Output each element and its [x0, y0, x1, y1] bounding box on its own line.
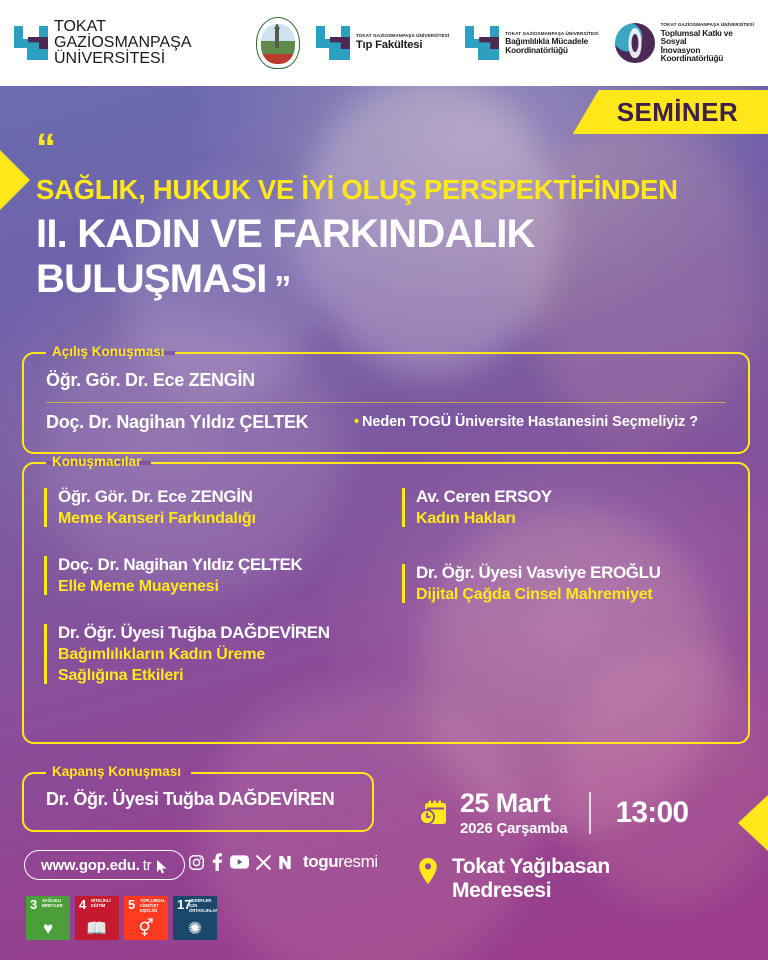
sponsor-logo-strip: TOKAT GAZİOSMANPAŞA ÜNİVERSİTESİ TOKAT G… — [0, 0, 768, 86]
speaker-item: Öğr. Gör. Dr. Ece ZENGİN Meme Kanseri Fa… — [44, 486, 399, 530]
opening-speech-panel: Açılış Konuşması Öğr. Gör. Dr. Ece ZENGİ… — [22, 352, 750, 454]
speaker-topic: Meme Kanseri Farkındalığı — [58, 509, 399, 530]
speakers-column-right: Av. Ceren ERSOY Kadın Hakları Dr. Öğr. Ü… — [402, 486, 752, 630]
speakers-panel: Konuşmacılar Öğr. Gör. Dr. Ece ZENGİN Me… — [22, 462, 750, 744]
sdg-goal-4-icon: 4 NİTELİKLİ EĞİTİM 📖 — [75, 896, 119, 940]
instagram-icon[interactable] — [188, 854, 205, 871]
opening-speaker-2: Doç. Dr. Nagihan Yıldız ÇELTEK — [46, 412, 308, 433]
quote-open-icon: “ — [36, 136, 746, 160]
poster-subtitle: SAĞLIK, HUKUK VE İYİ OLUŞ PERSPEKTİFİNDE… — [36, 174, 746, 206]
calendar-clock-icon — [418, 798, 448, 828]
cursor-icon — [156, 860, 168, 874]
togu-logo: TOKAT GAZİOSMANPAŞA ÜNİVERSİTESİ — [14, 19, 240, 68]
togu-emblem-icon — [316, 26, 350, 60]
youtube-icon[interactable] — [230, 855, 249, 869]
opening-topic-2-text: Neden TOGÜ Üniversite Hastanesini Seçmel… — [362, 414, 698, 430]
right-arrow-accent — [738, 795, 768, 851]
speaker-item: Dr. Öğr. Üyesi Tuğba DAĞDEVİREN Bağımlıl… — [44, 622, 399, 687]
closing-speaker: Dr. Öğr. Üyesi Tuğba DAĞDEVİREN — [46, 789, 334, 810]
sdg-label: NİTELİKLİ EĞİTİM — [91, 899, 117, 909]
tip-fakultesi-logo: TOKAT GAZİOSMANPAŞA ÜNİVERSİTESİ Tıp Fak… — [316, 26, 449, 60]
facebook-icon[interactable] — [212, 853, 223, 871]
sdg-label: TOPLUMSAL CİNSİYET EŞİTLİĞİ — [140, 899, 166, 913]
event-time: 13:00 — [615, 796, 688, 830]
closing-speech-panel: Kapanış Konuşması Dr. Öğr. Üyesi Tuğba D… — [22, 772, 374, 832]
togu-logo-line-2: GAZİOSMANPAŞA — [54, 34, 191, 51]
speaker-item: Doç. Dr. Nagihan Yıldız ÇELTEK Elle Meme… — [44, 554, 399, 598]
speakers-panel-label: Konuşmacılar — [44, 454, 149, 469]
social-handle-light: resmi — [338, 852, 378, 871]
quote-close-icon: “ — [275, 263, 291, 283]
seminar-poster: TOKAT GAZİOSMANPAŞA ÜNİVERSİTESİ TOKAT G… — [0, 0, 768, 960]
tip-fakultesi-name: Tıp Fakültesi — [356, 40, 449, 52]
opening-topic-2: •Neden TOGÜ Üniversite Hastanesini Seçme… — [354, 414, 698, 430]
togu-emblem-icon — [465, 26, 499, 60]
speaker-item: Av. Ceren ERSOY Kadın Hakları — [402, 486, 752, 530]
bagimlilikla-name-line-2: Koordinatörlüğü — [505, 46, 598, 55]
website-url-bold: www.gop.edu. — [41, 857, 140, 874]
togu-logo-line-3: ÜNİVERSİTESİ — [54, 50, 165, 67]
event-date-year: 2026 Çarşamba — [460, 821, 567, 836]
speaker-name: Öğr. Gör. Dr. Ece ZENGİN — [58, 486, 399, 507]
website-url-light: tr — [143, 857, 152, 874]
sdg-glyph: ♥ — [26, 920, 70, 937]
bagimlilikla-mucadele-logo: TOKAT GAZİOSMANPAŞA ÜNİVERSİTESİ Bağımlı… — [465, 26, 598, 60]
closing-panel-label: Kapanış Konuşması — [44, 764, 189, 779]
datetime-divider — [589, 792, 591, 834]
speakers-column-left: Öğr. Gör. Dr. Ece ZENGİN Meme Kanseri Fa… — [44, 486, 399, 711]
speaker-name: Dr. Öğr. Üyesi Vasviye EROĞLU — [416, 562, 752, 583]
opening-divider — [46, 402, 726, 403]
sdg-label: HEDEFLER İÇİN ORTAKLIKLAR — [189, 899, 215, 913]
bullet-icon: • — [354, 414, 359, 430]
togu-emblem-icon — [14, 26, 48, 60]
venue-line-2: Medresesi — [452, 879, 610, 903]
tokat-belediyesi-logo — [256, 17, 300, 69]
speaker-topic: Dijital Çağda Cinsel Mahremiyet — [416, 585, 752, 606]
page-title: II. KADIN VE FARKINDALIK BULUŞMASI“ — [36, 212, 746, 302]
social-handle-bold: togu — [303, 852, 338, 871]
speaker-name: Av. Ceren ERSOY — [416, 486, 752, 507]
social-handle: toguresmi — [303, 852, 378, 872]
sdg-number: 4 — [79, 898, 86, 911]
speaker-item: Dr. Öğr. Üyesi Vasviye EROĞLU Dijital Ça… — [402, 562, 752, 606]
sdg-glyph: 📖 — [75, 920, 119, 937]
speaker-topic: Kadın Hakları — [416, 509, 752, 530]
belediye-crest-icon — [256, 17, 300, 69]
sdg-glyph: ✺ — [173, 920, 217, 937]
poster-title-line-1: II. KADIN VE FARKINDALIK — [36, 212, 746, 257]
n-icon[interactable] — [278, 855, 292, 870]
toplumsal-name-line-2: İnovasyon Koordinatörlüğü — [661, 46, 754, 63]
event-date-day: 25 Mart — [460, 790, 567, 817]
sdg-number: 3 — [30, 898, 37, 911]
social-links: toguresmi — [188, 852, 378, 872]
opening-panel-label: Açılış Konuşması — [44, 344, 173, 359]
website-pill[interactable]: www.gop.edu.tr — [24, 850, 185, 880]
togu-logo-line-1: TOKAT — [54, 18, 106, 35]
venue-line-1: Tokat Yağıbasan — [452, 855, 610, 879]
opening-speaker-1: Öğr. Gör. Dr. Ece ZENGİN — [46, 370, 255, 391]
speaker-topic: Bağımlılıkların Kadın Üreme Sağlığına Et… — [58, 645, 399, 687]
x-icon[interactable] — [256, 855, 271, 870]
sdg-number: 5 — [128, 898, 135, 911]
sdg-goal-3-icon: 3 SAĞLIKLI BİREYLER ♥ — [26, 896, 70, 940]
seminar-badge: SEMİNER — [573, 90, 768, 134]
toplumsal-katki-logo: TOKAT GAZİOSMANPAŞA ÜNİVERSİTESİ Toplums… — [615, 23, 754, 63]
sdg-glyph: ⚥ — [124, 920, 168, 937]
toplumsal-katki-emblem-icon — [615, 23, 655, 63]
sdg-goal-5-icon: 5 TOPLUMSAL CİNSİYET EŞİTLİĞİ ⚥ — [124, 896, 168, 940]
location-pin-icon — [418, 857, 438, 885]
sdg-label: SAĞLIKLI BİREYLER — [42, 899, 68, 909]
event-venue: Tokat Yağıbasan Medresesi — [418, 855, 610, 903]
sdg-goals-row: 3 SAĞLIKLI BİREYLER ♥ 4 NİTELİKLİ EĞİTİM… — [26, 896, 217, 940]
title-block: “ SAĞLIK, HUKUK VE İYİ OLUŞ PERSPEKTİFİN… — [36, 136, 746, 302]
event-datetime: 25 Mart 2026 Çarşamba 13:00 — [418, 790, 688, 836]
toplumsal-name-line-1: Toplumsal Katkı ve Sosyal — [661, 29, 754, 46]
speaker-name: Dr. Öğr. Üyesi Tuğba DAĞDEVİREN — [58, 622, 399, 643]
left-arrow-accent — [0, 150, 30, 210]
toplumsal-university-line: TOKAT GAZİOSMANPAŞA ÜNİVERSİTESİ — [661, 23, 754, 28]
poster-title-line-2: BULUŞMASI — [36, 257, 267, 302]
speaker-topic: Elle Meme Muayenesi — [58, 577, 399, 598]
sdg-goal-17-icon: 17 HEDEFLER İÇİN ORTAKLIKLAR ✺ — [173, 896, 217, 940]
speaker-name: Doç. Dr. Nagihan Yıldız ÇELTEK — [58, 554, 399, 575]
